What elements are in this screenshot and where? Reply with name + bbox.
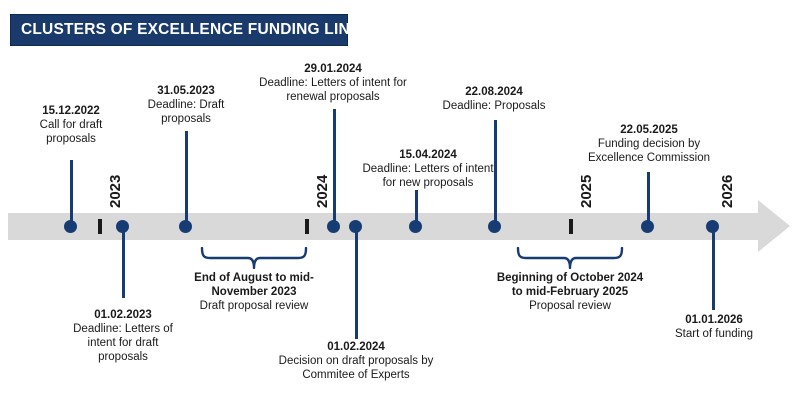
event-stem-22-05-2025 <box>647 172 650 226</box>
event-label-31-05-2023: 31.05.2023 Deadline: Draft proposals <box>130 84 242 126</box>
event-stem-29-01-2024 <box>333 109 336 226</box>
timeline-arrow-icon <box>758 200 790 252</box>
event-date: 01.02.2024 <box>272 340 440 354</box>
event-desc: Deadline: Proposals <box>429 99 559 113</box>
event-stem-15-12-2022 <box>70 160 73 226</box>
event-stem-31-05-2023 <box>185 131 188 226</box>
period-label-draft-review: End of August to mid-November 2023 Draft… <box>181 271 327 313</box>
year-label-2024: 2024 <box>314 175 331 208</box>
year-tick-2024 <box>305 219 309 234</box>
event-desc: Deadline: Draft proposals <box>130 98 242 126</box>
event-desc: Deadline: Letters of intent for draft pr… <box>62 322 184 364</box>
title-banner: CLUSTERS OF EXCELLENCE FUNDING LINE <box>10 14 348 46</box>
event-dot-01-02-2024[interactable] <box>349 220 362 233</box>
period-brace-proposal-review-icon <box>516 247 624 269</box>
event-date: 29.01.2024 <box>253 62 413 76</box>
event-desc: Decision on draft proposals by Commitee … <box>272 354 440 382</box>
event-desc: Funding decision by Excellence Commissio… <box>576 137 722 165</box>
event-stem-01-02-2024 <box>355 226 358 339</box>
year-tick-2025 <box>569 219 573 234</box>
year-label-2026: 2026 <box>719 175 736 208</box>
event-label-15-12-2022: 15.12.2022 Call for draft proposals <box>16 104 126 146</box>
event-dot-29-01-2024[interactable] <box>327 220 340 233</box>
timeline-infographic: CLUSTERS OF EXCELLENCE FUNDING LINE 2023… <box>0 0 800 400</box>
event-desc: Deadline: Letters of intent for new prop… <box>357 162 499 190</box>
event-dot-01-01-2026[interactable] <box>706 220 719 233</box>
period-title: Beginning of October 2024 to mid-Februar… <box>494 271 646 299</box>
event-label-01-01-2026: 01.01.2026 Start of funding <box>655 313 773 341</box>
event-date: 01.01.2026 <box>655 313 773 327</box>
event-dot-01-02-2023[interactable] <box>116 220 129 233</box>
event-label-22-08-2024: 22.08.2024 Deadline: Proposals <box>429 85 559 113</box>
period-brace-draft-review-icon <box>200 247 308 269</box>
event-dot-15-04-2024[interactable] <box>409 220 422 233</box>
year-tick-2023 <box>98 219 102 234</box>
event-date: 31.05.2023 <box>130 84 242 98</box>
event-date: 01.02.2023 <box>62 308 184 322</box>
event-stem-01-01-2026 <box>712 226 715 310</box>
event-desc: Start of funding <box>655 327 773 341</box>
event-date: 22.08.2024 <box>429 85 559 99</box>
event-dot-22-08-2024[interactable] <box>488 220 501 233</box>
period-subtitle: Proposal review <box>494 299 646 313</box>
event-dot-22-05-2025[interactable] <box>641 220 654 233</box>
page-title: CLUSTERS OF EXCELLENCE FUNDING LINE <box>21 21 360 39</box>
event-desc: Deadline: Letters of intent for renewal … <box>253 76 413 104</box>
event-date: 22.05.2025 <box>576 123 722 137</box>
period-title: End of August to mid-November 2023 <box>181 271 327 299</box>
event-label-15-04-2024: 15.04.2024 Deadline: Letters of intent f… <box>357 148 499 190</box>
event-label-01-02-2023: 01.02.2023 Deadline: Letters of intent f… <box>62 308 184 364</box>
event-desc: Call for draft proposals <box>16 118 126 146</box>
event-stem-22-08-2024 <box>494 120 497 226</box>
year-label-2023: 2023 <box>107 175 124 208</box>
period-label-proposal-review: Beginning of October 2024 to mid-Februar… <box>494 271 646 313</box>
event-date: 15.04.2024 <box>357 148 499 162</box>
event-dot-31-05-2023[interactable] <box>179 220 192 233</box>
event-dot-15-12-2022[interactable] <box>64 220 77 233</box>
event-label-01-02-2024: 01.02.2024 Decision on draft proposals b… <box>272 340 440 382</box>
event-stem-01-02-2023 <box>122 226 125 298</box>
period-subtitle: Draft proposal review <box>181 299 327 313</box>
event-label-22-05-2025: 22.05.2025 Funding decision by Excellenc… <box>576 123 722 165</box>
event-date: 15.12.2022 <box>16 104 126 118</box>
event-label-29-01-2024: 29.01.2024 Deadline: Letters of intent f… <box>253 62 413 104</box>
year-label-2025: 2025 <box>578 175 595 208</box>
